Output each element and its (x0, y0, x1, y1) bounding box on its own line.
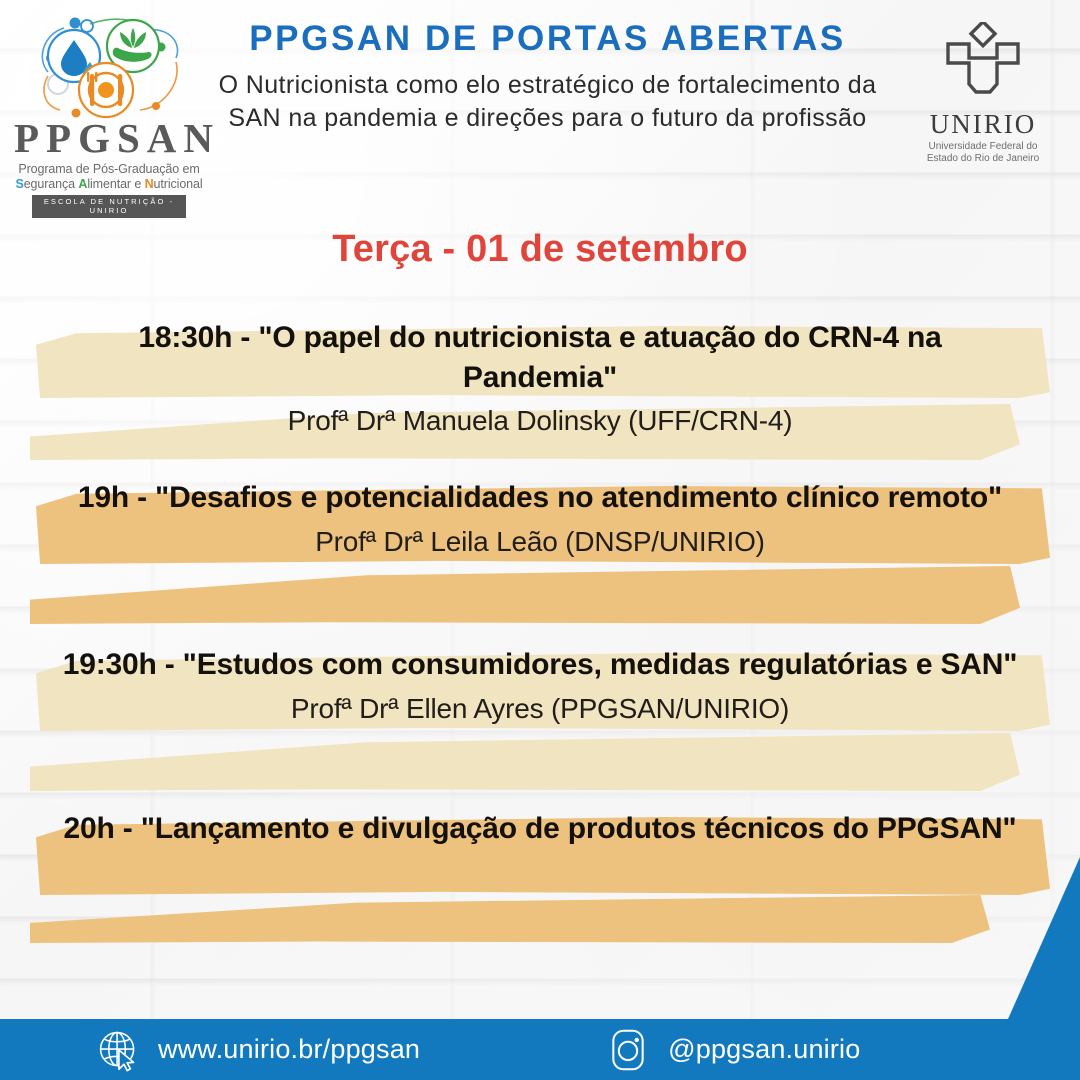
session-item: 19:30h - "Estudos com consumidores, medi… (0, 643, 1080, 803)
unirio-sub-line2: Estado do Rio de Janeiro (908, 153, 1058, 165)
ppgsan-wordmark: PPGSAN (14, 118, 204, 159)
unirio-wordmark: UNIRIO (908, 111, 1058, 138)
globe-cursor-icon (96, 1028, 140, 1072)
unirio-logo: UNIRIO Universidade Federal do Estado do… (908, 22, 1058, 165)
unirio-figure-icon (936, 22, 1030, 104)
instagram-label: @ppgsan.unirio (668, 1034, 860, 1065)
poster-footer: www.unirio.br/ppgsan @ppgsan.unirio (0, 1019, 1080, 1080)
footer-website[interactable]: www.unirio.br/ppgsan (96, 1028, 420, 1072)
session-list: 18:30h - "O papel do nutricionista e atu… (0, 318, 1080, 935)
session-item: 19h - "Desafios e potencialidades no ate… (0, 474, 1080, 637)
event-title: PPGSAN DE PORTAS ABERTAS (205, 20, 890, 59)
event-date: Terça - 01 de setembro (0, 228, 1080, 271)
session-title: 19:30h - "Estudos com consumidores, medi… (60, 645, 1020, 685)
unirio-sub-line1: Universidade Federal do (908, 141, 1058, 153)
poster-header: PPGSAN Programa de Pós-Graduação em Segu… (0, 0, 1080, 200)
session-item: 20h - "Lançamento e divulgação de produt… (0, 809, 1080, 929)
event-poster: PPGSAN Programa de Pós-Graduação em Segu… (0, 0, 1080, 1080)
session-speaker: Profª Drª Ellen Ayres (PPGSAN/UNIRIO) (60, 691, 1020, 727)
ppgsan-tagline-line2: Segurança Alimentar e Nutricional (14, 177, 204, 191)
session-title: 19h - "Desafios e potencialidades no ate… (60, 478, 1020, 518)
title-block: PPGSAN DE PORTAS ABERTAS O Nutricionista… (205, 20, 890, 135)
brush-stroke-speaker (30, 895, 990, 943)
event-subtitle: O Nutricionista como elo estratégico de … (205, 69, 890, 135)
session-item: 18:30h - "O papel do nutricionista e atu… (0, 318, 1080, 468)
footer-instagram[interactable]: @ppgsan.unirio (606, 1028, 860, 1072)
session-title: 18:30h - "O papel do nutricionista e atu… (60, 318, 1020, 397)
ppgsan-icon-cluster (30, 14, 200, 122)
ppgsan-school-band: ESCOLA DE NUTRIÇÃO - UNIRIO (32, 195, 186, 218)
session-title: 20h - "Lançamento e divulgação de produt… (60, 809, 1020, 849)
ppgsan-logo: PPGSAN Programa de Pós-Graduação em Segu… (14, 14, 204, 192)
instagram-icon (606, 1028, 650, 1072)
brush-stroke-speaker (30, 566, 1020, 624)
session-speaker: Profª Drª Leila Leão (DNSP/UNIRIO) (60, 524, 1020, 560)
ppgsan-tagline-line1: Programa de Pós-Graduação em (14, 162, 204, 176)
brush-stroke-speaker (30, 733, 1020, 791)
website-label: www.unirio.br/ppgsan (158, 1034, 420, 1065)
ppgsan-logo-icons (30, 14, 200, 122)
session-speaker: Profª Drª Manuela Dolinsky (UFF/CRN-4) (60, 403, 1020, 439)
